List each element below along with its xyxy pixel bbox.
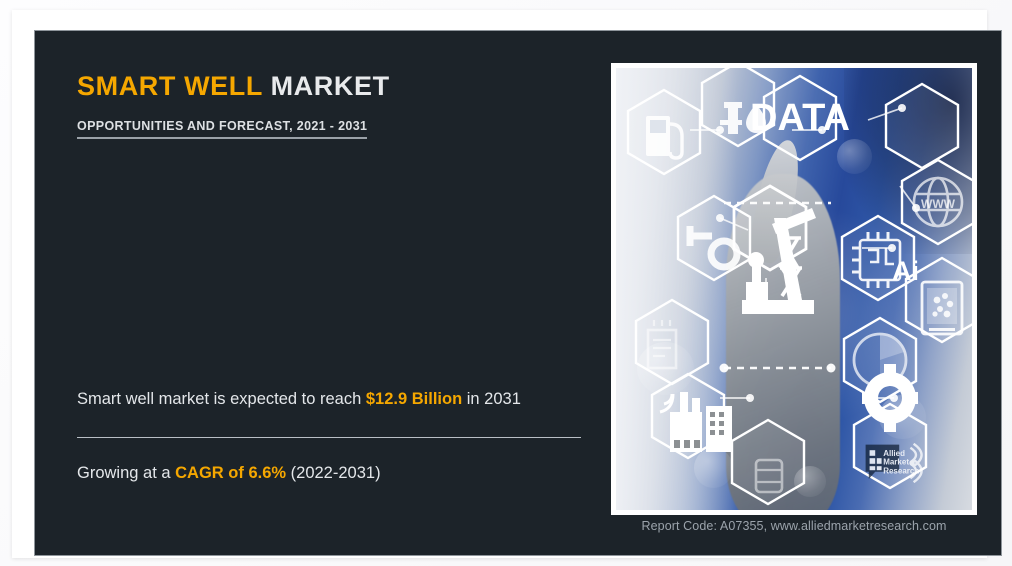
title-highlight: SMART WELL (77, 71, 262, 101)
statements-block: Smart well market is expected to reach $… (77, 386, 583, 487)
cagr-highlight: CAGR of 6.6% (175, 464, 286, 482)
report-card: SMART WELL MARKET OPPORTUNITIES AND FORE… (12, 10, 987, 558)
report-footer: Report Code: A07355, www.alliedmarketres… (611, 519, 977, 533)
market-value-statement: Smart well market is expected to reach $… (77, 386, 583, 413)
statements-divider (77, 437, 581, 438)
data-hexagon-label: DATA (750, 97, 850, 139)
svg-text:Market: Market (883, 458, 909, 467)
market-value-highlight: $12.9 Billion (366, 390, 462, 408)
page-title: SMART WELL MARKET (77, 71, 597, 102)
report-subtitle: OPPORTUNITIES AND FORECAST, 2021 - 2031 (77, 119, 367, 133)
statement-1-post: in 2031 (462, 390, 521, 408)
left-content-column: SMART WELL MARKET OPPORTUNITIES AND FORE… (77, 71, 597, 551)
statement-2-pre: Growing at a (77, 464, 175, 482)
title-rest: MARKET (262, 71, 389, 101)
hero-image: DATA (616, 68, 972, 510)
statement-2-post: (2022-2031) (286, 464, 380, 482)
subtitle-underline-wrapper: OPPORTUNITIES AND FORECAST, 2021 - 2031 (77, 119, 367, 139)
page-background: SMART WELL MARKET OPPORTUNITIES AND FORE… (0, 0, 1012, 566)
dark-panel: SMART WELL MARKET OPPORTUNITIES AND FORE… (34, 30, 1002, 556)
statement-1-pre: Smart well market is expected to reach (77, 390, 366, 408)
watermark-logo: Allied Market Research (864, 443, 944, 483)
svg-text:Allied: Allied (883, 449, 905, 458)
cagr-statement: Growing at a CAGR of 6.6% (2022-2031) (77, 460, 583, 487)
svg-text:WWW: WWW (921, 197, 956, 211)
hero-image-frame: DATA (611, 63, 977, 515)
ai-hexagon-label: Ai (892, 256, 919, 286)
